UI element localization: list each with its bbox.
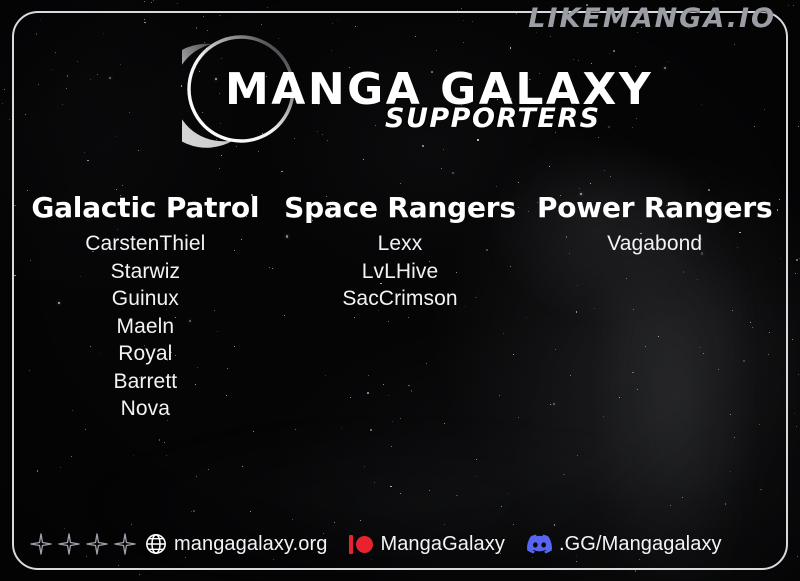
logo-subtitle: SUPPORTERS [385,105,601,132]
supporter-name: Barrett [18,368,273,396]
footer-link-label: MangaGalaxy [380,533,505,556]
tier-title: Galactic Patrol [18,192,273,224]
tier-title: Power Rangers [527,192,782,224]
tier-column-power-rangers: Power Rangers Vagabond [527,192,782,423]
tier-title: Space Rangers [273,192,528,224]
supporters-card: LIKEMANGA.IO MANGA GALAXY SUPPORTERS Gal… [0,0,800,581]
footer-bar: mangagalaxy.org MangaGalaxy .GG/Mangagal… [0,527,800,561]
footer-link-manga[interactable]: MangaGalaxy [349,533,505,556]
flag-dot-icon [349,535,373,554]
footer-links: mangagalaxy.org MangaGalaxy .GG/Mangagal… [145,532,722,557]
footer-link-label: mangagalaxy.org [174,533,327,556]
sparkle-star-icon [114,533,136,555]
sparkle-star-icon [58,533,80,555]
supporter-tiers: Galactic Patrol CarstenThiel Starwiz Gui… [18,192,782,423]
supporter-name: Royal [18,340,273,368]
footer-link-website[interactable]: mangagalaxy.org [145,533,327,556]
supporter-name: Nova [18,395,273,423]
logo-text: MANGA GALAXY SUPPORTERS [225,68,645,148]
tier-name-list: CarstenThiel Starwiz Guinux Maeln Royal … [18,230,273,423]
footer-link-label: .GG/Mangagalaxy [559,533,722,556]
supporter-name: Lexx [273,230,528,258]
supporter-name: LvLHive [273,258,528,286]
supporter-name: SacCrimson [273,285,528,313]
site-watermark: LIKEMANGA.IO [528,3,776,34]
supporter-name: Guinux [18,285,273,313]
footer-link-discord[interactable]: .GG/Mangagalaxy [527,532,722,557]
tier-name-list: Lexx LvLHive SacCrimson [273,230,528,313]
sparkle-group [30,533,136,555]
globe-icon [145,533,167,555]
supporter-name: Starwiz [18,258,273,286]
supporter-name: Maeln [18,313,273,341]
supporter-name: Vagabond [527,230,782,258]
tier-column-galactic-patrol: Galactic Patrol CarstenThiel Starwiz Gui… [18,192,273,423]
tier-column-space-rangers: Space Rangers Lexx LvLHive SacCrimson [273,192,528,423]
sparkle-star-icon [30,533,52,555]
tier-name-list: Vagabond [527,230,782,258]
supporter-name: CarstenThiel [18,230,273,258]
sparkle-star-icon [86,533,108,555]
logo-block: MANGA GALAXY SUPPORTERS [0,24,800,144]
discord-icon [527,532,552,557]
